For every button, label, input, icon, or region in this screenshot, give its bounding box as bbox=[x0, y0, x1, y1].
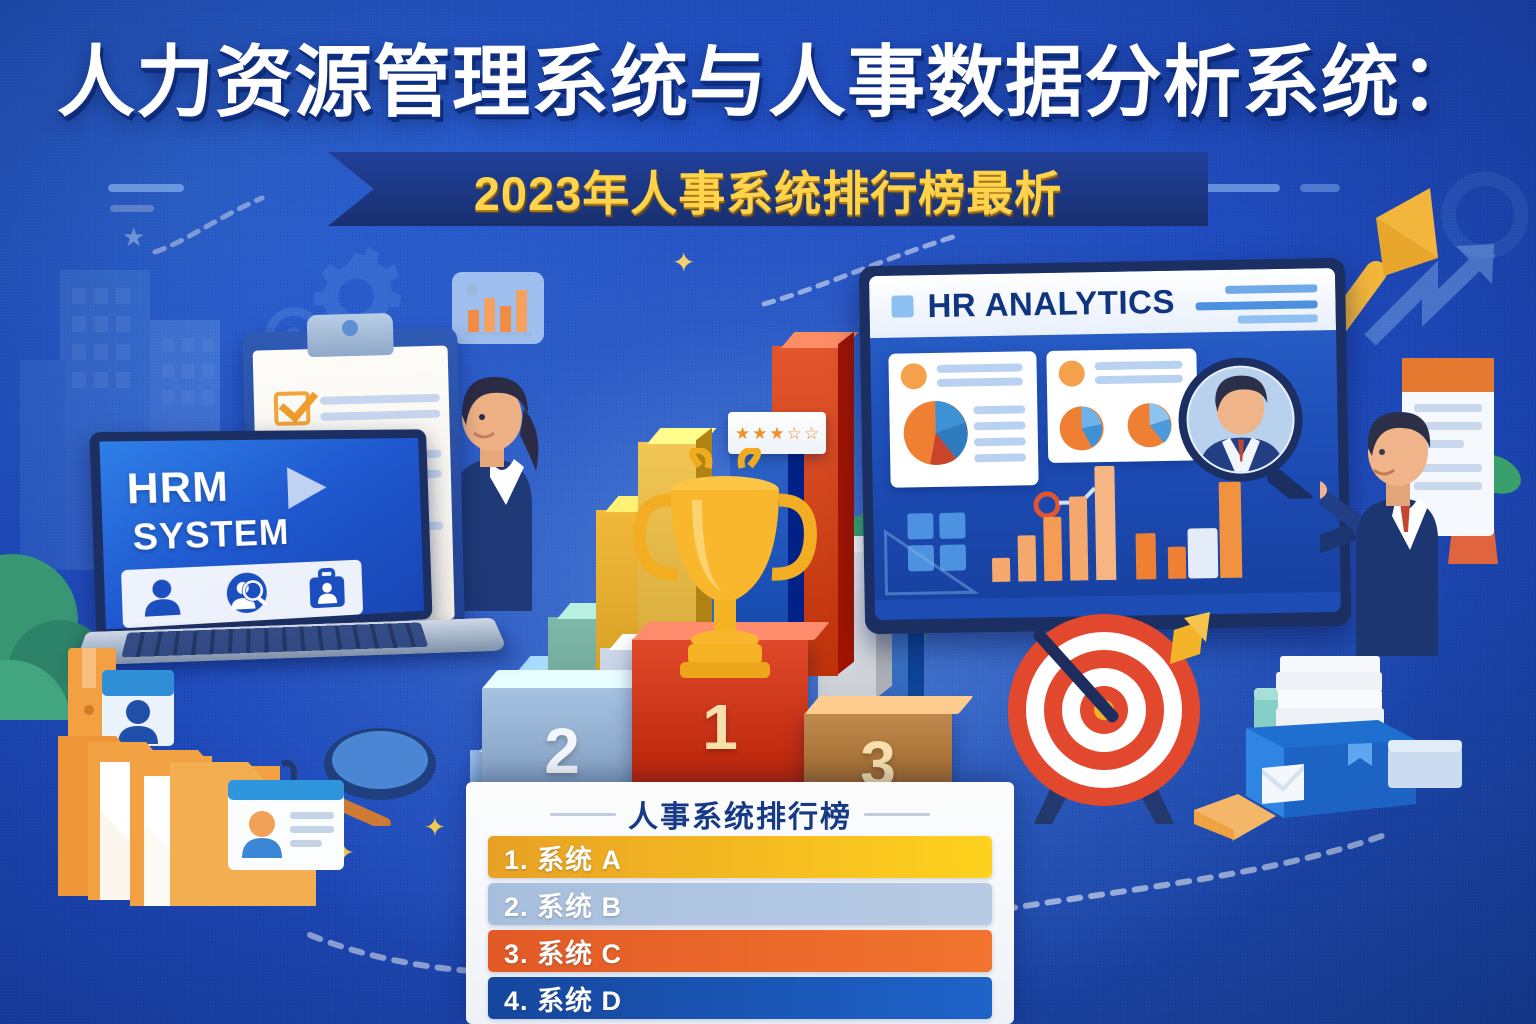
id-badge-icon bbox=[222, 758, 350, 878]
podium-rank-number: 1 bbox=[702, 690, 738, 764]
ranking-row-label: 3. 系统 C bbox=[504, 932, 622, 971]
ranking-row-label: 1. 系统 A bbox=[504, 838, 622, 877]
rule-left bbox=[550, 813, 616, 816]
star-icon: ★ bbox=[752, 425, 767, 442]
checkbox-icon bbox=[274, 391, 311, 426]
arrow-decor-icon bbox=[1360, 240, 1500, 370]
hr-analytics-monitor: HR ANALYTICS bbox=[859, 258, 1351, 634]
hr-analytics-title: HR ANALYTICS bbox=[927, 283, 1175, 325]
ranking-rows: 1. 系统 A2. 系统 B3. 系统 C4. 系统 D bbox=[488, 836, 992, 1019]
businessman-avatar bbox=[1320, 390, 1480, 660]
star-icon: ✦ bbox=[672, 246, 695, 279]
star-icon: ★ bbox=[769, 425, 784, 442]
bar-chart-badge-icon bbox=[452, 272, 544, 344]
target-icon bbox=[1004, 612, 1216, 830]
briefcase-user-icon bbox=[306, 567, 348, 610]
star-icon: ☆ bbox=[787, 425, 802, 442]
laptop-screen: HRM SYSTEM bbox=[89, 429, 432, 639]
ranking-row[interactable]: 2. 系统 B bbox=[488, 883, 992, 925]
pie-chart bbox=[1057, 398, 1118, 455]
pie-chart bbox=[899, 396, 972, 469]
hrm-icon-bar bbox=[121, 560, 363, 629]
ranking-header: 人事系统排行榜 bbox=[488, 792, 992, 836]
rule-right bbox=[864, 813, 930, 816]
podium-rank-number: 2 bbox=[544, 714, 580, 788]
ranking-row-label: 2. 系统 B bbox=[504, 885, 622, 924]
trophy-icon bbox=[630, 448, 820, 688]
star-icon: ★ bbox=[122, 222, 145, 253]
poster-canvas: ★ ✦ ✦ ✦ ✦ 人力资源管理系统与人事数据分析系统： bbox=[0, 0, 1536, 1024]
star-icon: ✦ bbox=[1222, 818, 1244, 849]
ranking-row-label: 4. 系统 D bbox=[504, 979, 622, 1018]
user-avatar-icon bbox=[1059, 360, 1085, 386]
page-title: 人力资源管理系统与人事数据分析系统： bbox=[0, 42, 1536, 124]
user-search-icon bbox=[218, 571, 275, 614]
star-icon: ✦ bbox=[424, 812, 446, 843]
ribbon-left-dash bbox=[108, 184, 184, 192]
ribbon-right-dash-2 bbox=[1300, 184, 1340, 192]
magnifier-icon bbox=[318, 716, 450, 826]
dash-decor bbox=[110, 205, 154, 212]
ribbon-right-dash bbox=[1204, 184, 1280, 192]
user-avatar-icon bbox=[901, 363, 927, 389]
star-icon: ☆ bbox=[804, 425, 819, 442]
subtitle-ribbon: 2023年人事系统排行榜最析 bbox=[328, 152, 1208, 226]
ranking-panel: 人事系统排行榜 1. 系统 A2. 系统 B3. 系统 C4. 系统 D bbox=[466, 782, 1014, 1024]
ranking-row[interactable]: 1. 系统 A bbox=[488, 836, 992, 878]
hrm-title-line1: HRM bbox=[126, 462, 230, 513]
gear-icon bbox=[1430, 160, 1536, 270]
star-icon: ✦ bbox=[330, 836, 355, 871]
triangle-decor bbox=[881, 500, 983, 598]
ranking-row[interactable]: 4. 系统 D bbox=[488, 977, 992, 1019]
podium-top bbox=[804, 696, 973, 714]
user-icon bbox=[139, 576, 186, 619]
play-icon[interactable] bbox=[287, 467, 327, 509]
page-subtitle: 2023年人事系统排行榜最析 bbox=[474, 155, 1063, 224]
dotted-path-decor bbox=[150, 190, 270, 260]
hrm-title-line2: SYSTEM bbox=[132, 511, 290, 559]
ranking-title: 人事系统排行榜 bbox=[628, 792, 852, 836]
title-block: 人力资源管理系统与人事数据分析系统： bbox=[0, 42, 1536, 124]
laptop-hrm: HRM SYSTEM bbox=[73, 423, 503, 717]
header-square-icon bbox=[891, 295, 913, 317]
folder-icon bbox=[52, 700, 342, 910]
star-icon: ★ bbox=[735, 425, 750, 442]
ranking-row[interactable]: 3. 系统 C bbox=[488, 930, 992, 972]
magnifier-icon bbox=[1166, 352, 1315, 501]
